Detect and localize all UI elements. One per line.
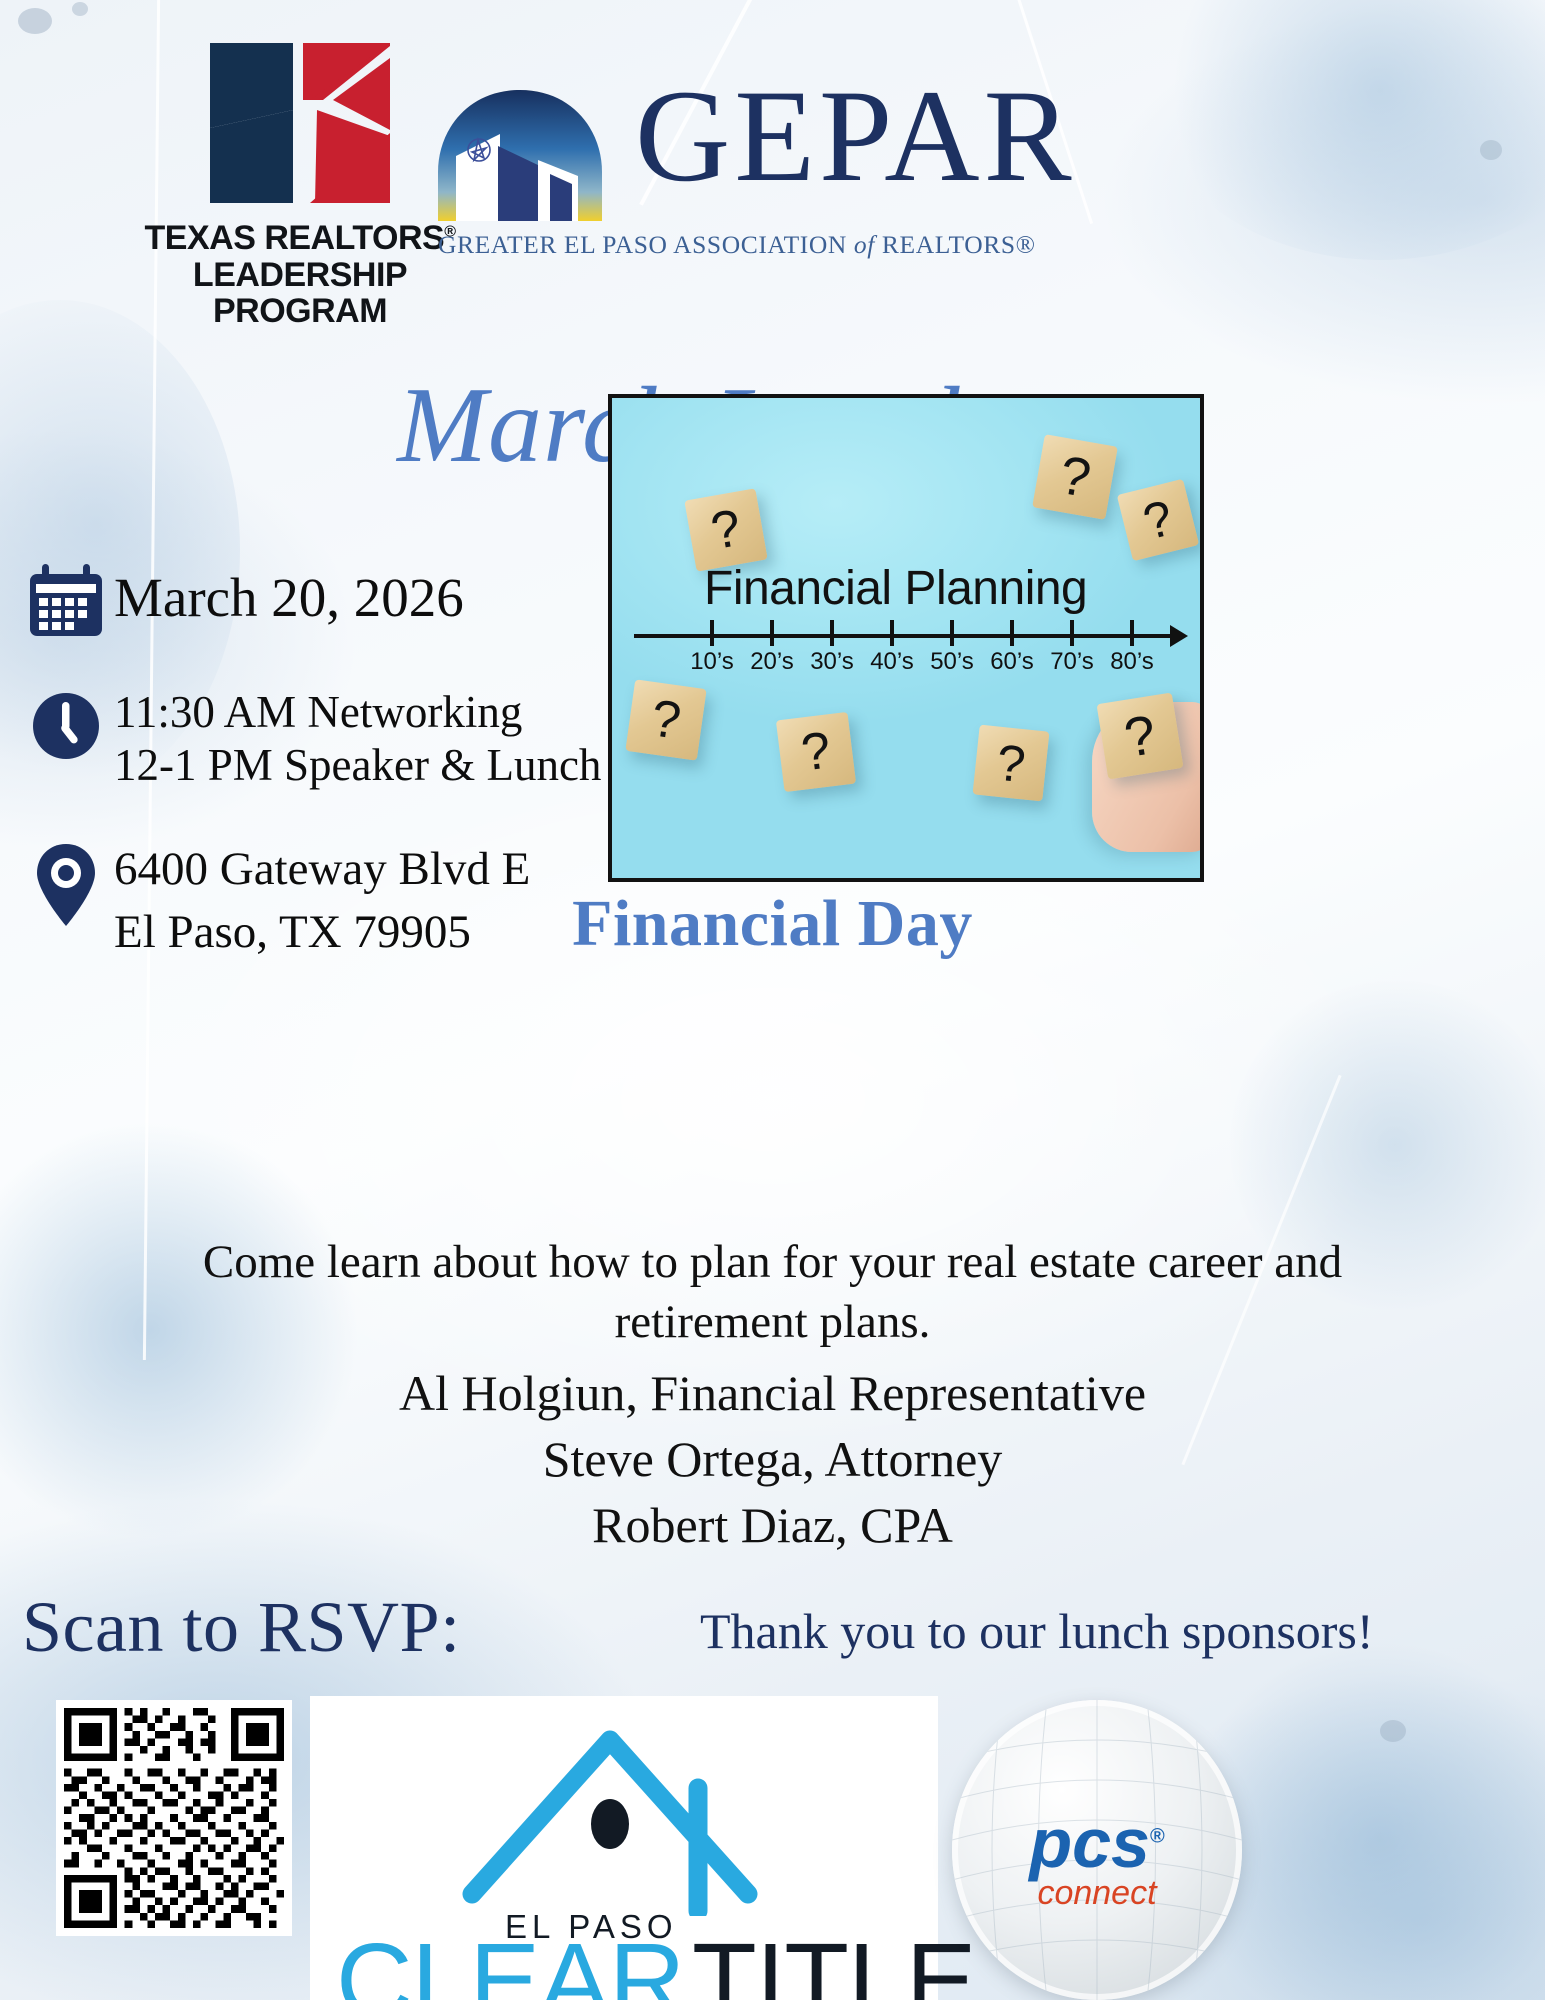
clear-title-logo: EL PASO CLEAR TITLE COMPANY: [310, 1696, 938, 2000]
clear-title-title: TITLE: [692, 1928, 976, 2000]
gepar-tagline-part2: REALTORS®: [875, 230, 1036, 259]
speaker-list: Al Holgiun, Financial Representative Ste…: [60, 1360, 1485, 1558]
timeline-tick: [830, 620, 834, 646]
event-time-line1: 11:30 AM Networking: [114, 686, 601, 739]
timeline-label: 70’s: [1050, 648, 1094, 676]
financial-planning-photo: ? ? ? ? ? ? ? Financial Planning 10’s 20…: [608, 394, 1204, 882]
timeline-label: 80’s: [1110, 648, 1154, 676]
pcs-disc: pcs® connect: [952, 1700, 1242, 2000]
question-cube: ?: [776, 712, 856, 792]
speaker-item: Al Holgiun, Financial Representative: [60, 1360, 1485, 1426]
timeline-tick: [1010, 620, 1014, 646]
rsvp-label: Scan to RSVP:: [22, 1586, 461, 1669]
question-cube: ?: [625, 679, 706, 760]
pcs-registered-mark: ®: [1150, 1826, 1165, 1848]
detail-row-date: March 20, 2026: [18, 560, 618, 640]
description-line1: Come learn about how to plan for your re…: [60, 1232, 1485, 1292]
timeline-label: 50’s: [930, 648, 974, 676]
speaker-item: Steve Ortega, Attorney: [60, 1426, 1485, 1492]
timeline-label: 30’s: [810, 648, 854, 676]
gepar-tagline: GREATER EL PASO ASSOCIATION of REALTORS®: [438, 230, 1208, 260]
clock-icon: [18, 686, 114, 762]
timeline-tick: [1130, 620, 1134, 646]
pcs-subword: connect: [952, 1876, 1242, 1910]
texas-realtors-mark-icon: [205, 38, 395, 208]
gepar-mark-icon: [420, 88, 620, 223]
timeline-label: 20’s: [750, 648, 794, 676]
timeline-axis: [634, 634, 1182, 638]
timeline-label: 60’s: [990, 648, 1034, 676]
event-time-line2: 12-1 PM Speaker & Lunch: [114, 739, 601, 792]
event-date: March 20, 2026: [114, 560, 464, 631]
texas-realtors-line2: LEADERSHIP PROGRAM: [140, 257, 460, 330]
detail-row-time: 11:30 AM Networking 12-1 PM Speaker & Lu…: [18, 686, 618, 792]
texas-realtors-logo: TEXAS REALTORS® LEADERSHIP PROGRAM: [140, 38, 460, 330]
gepar-logo: GEPAR GREATER EL PASO ASSOCIATION of REA…: [420, 78, 1210, 288]
flyer-page: TEXAS REALTORS® LEADERSHIP PROGRAM: [0, 0, 1545, 2000]
texas-realtors-line1: TEXAS REALTORS®: [140, 220, 460, 257]
question-cube: ?: [684, 488, 767, 571]
timeline-arrow-icon: [1170, 625, 1188, 647]
calendar-icon: [18, 560, 114, 640]
event-description: Come learn about how to plan for your re…: [60, 1232, 1485, 1352]
timeline-tick: [890, 620, 894, 646]
ink-dot: [72, 2, 88, 16]
gepar-tagline-of: of: [854, 230, 875, 259]
question-cube: ?: [1032, 434, 1118, 520]
rsvp-qr-code[interactable]: [56, 1700, 292, 1936]
pcs-word-text: pcs: [1029, 1804, 1150, 1882]
question-cube: ?: [973, 725, 1050, 802]
texas-realtors-wordmark: TEXAS REALTORS: [145, 219, 445, 257]
sponsors-thanks: Thank you to our lunch sponsors!: [700, 1602, 1374, 1660]
gepar-wordmark: GEPAR: [635, 70, 1076, 202]
speaker-item: Robert Diaz, CPA: [60, 1492, 1485, 1558]
description-line2: retirement plans.: [60, 1292, 1485, 1352]
timeline-tick: [1070, 620, 1074, 646]
timeline-label: 40’s: [870, 648, 914, 676]
event-subject: Financial Day: [0, 886, 1545, 962]
photo-caption: Financial Planning: [704, 561, 1087, 616]
header-logos: TEXAS REALTORS® LEADERSHIP PROGRAM: [0, 18, 1545, 308]
timeline-tick: [950, 620, 954, 646]
clear-title-clear: CLEAR: [336, 1928, 684, 2000]
house-icon: [460, 1706, 760, 1916]
timeline-label: 10’s: [690, 648, 734, 676]
event-time: 11:30 AM Networking 12-1 PM Speaker & Lu…: [114, 686, 601, 792]
pcs-wordmark: pcs®: [952, 1808, 1242, 1878]
gepar-tagline-part1: GREATER EL PASO ASSOCIATION: [438, 230, 854, 259]
timeline-tick: [710, 620, 714, 646]
question-cube: ?: [1097, 693, 1184, 780]
pcs-connect-logo: pcs® connect: [952, 1700, 1242, 2000]
ink-dot: [1380, 1720, 1406, 1742]
timeline-tick: [770, 620, 774, 646]
